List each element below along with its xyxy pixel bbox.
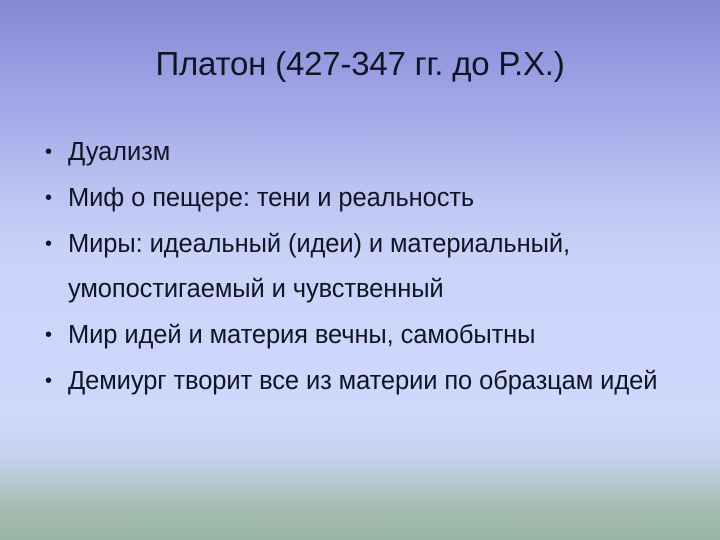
bullet-list: • Дуализм • Миф о пещере: тени и реально… — [40, 130, 680, 405]
list-item-label: Миф о пещере: тени и реальность — [68, 176, 680, 221]
list-item: • Мир идей и материя вечны, самобытны — [40, 313, 680, 358]
list-item: • Демиург творит все из материи по образ… — [40, 359, 680, 404]
list-item: • Дуализм — [40, 130, 680, 175]
list-item-label: Мир идей и материя вечны, самобытны — [68, 313, 680, 358]
bullet-point-icon: • — [45, 130, 63, 175]
list-item: • Миф о пещере: тени и реальность — [40, 176, 680, 221]
bullet-point-icon: • — [45, 313, 63, 358]
bullet-point-icon: • — [45, 222, 63, 267]
list-item-label: Демиург творит все из материи по образца… — [68, 359, 680, 404]
bullet-point-icon: • — [45, 359, 63, 404]
bullet-point-icon: • — [45, 176, 63, 221]
list-item-label: Миры: идеальный (идеи) и материальный, у… — [68, 222, 680, 312]
list-item-label: Дуализм — [68, 130, 680, 175]
presentation-slide: Платон (427-347 гг. до Р.Х.) • Дуализм •… — [0, 0, 720, 540]
page-title: Платон (427-347 гг. до Р.Х.) — [0, 44, 720, 84]
list-item: • Миры: идеальный (идеи) и материальный,… — [40, 222, 680, 312]
